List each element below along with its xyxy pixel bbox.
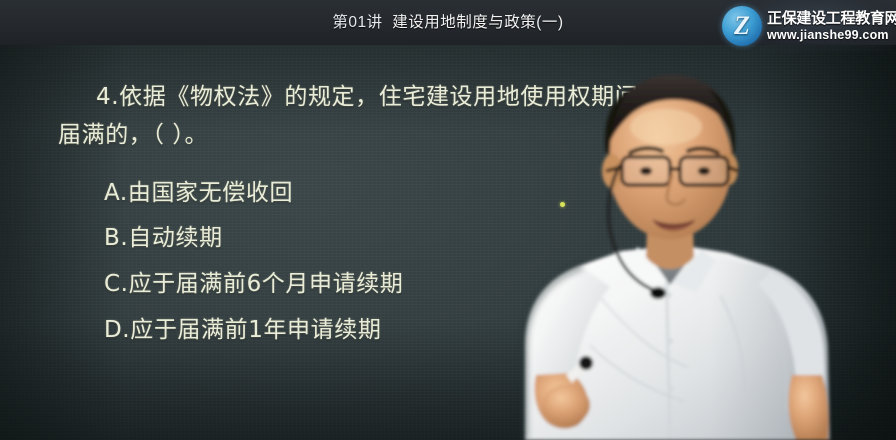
brand-text-group: 正保建设工程教育网 www.jianshe99.com	[767, 11, 896, 42]
option-b: B.自动续期	[104, 218, 223, 252]
brand-url: www.jianshe99.com	[767, 29, 896, 42]
brand-logo[interactable]: Z 正保建设工程教育网 www.jianshe99.com	[720, 0, 892, 52]
brand-z-icon: Z	[722, 6, 762, 46]
video-stage[interactable]: 4.依据《物权法》的规定，住宅建设用地使用权期间 届满的，（ ）。 A.由国家无…	[0, 45, 896, 440]
question-line-2: 届满的，（ ）。	[58, 115, 208, 149]
option-c: C.应于届满前6个月申请续期	[104, 264, 403, 298]
brand-name: 正保建设工程教育网	[767, 11, 896, 26]
option-a: A.由国家无偿收回	[104, 173, 293, 207]
lecture-topic: 建设用地制度与政策(一)	[392, 14, 563, 31]
question-line-1: 4.依据《物权法》的规定，住宅建设用地使用权期间	[96, 77, 638, 111]
brand-z-letter: Z	[722, 6, 762, 46]
video-player-screen: 4.依据《物权法》的规定，住宅建设用地使用权期间 届满的，（ ）。 A.由国家无…	[0, 0, 896, 440]
lens-flare-dot	[560, 202, 565, 207]
lecture-number: 第01讲	[332, 14, 382, 31]
option-d: D.应于届满前1年申请续期	[104, 310, 381, 344]
